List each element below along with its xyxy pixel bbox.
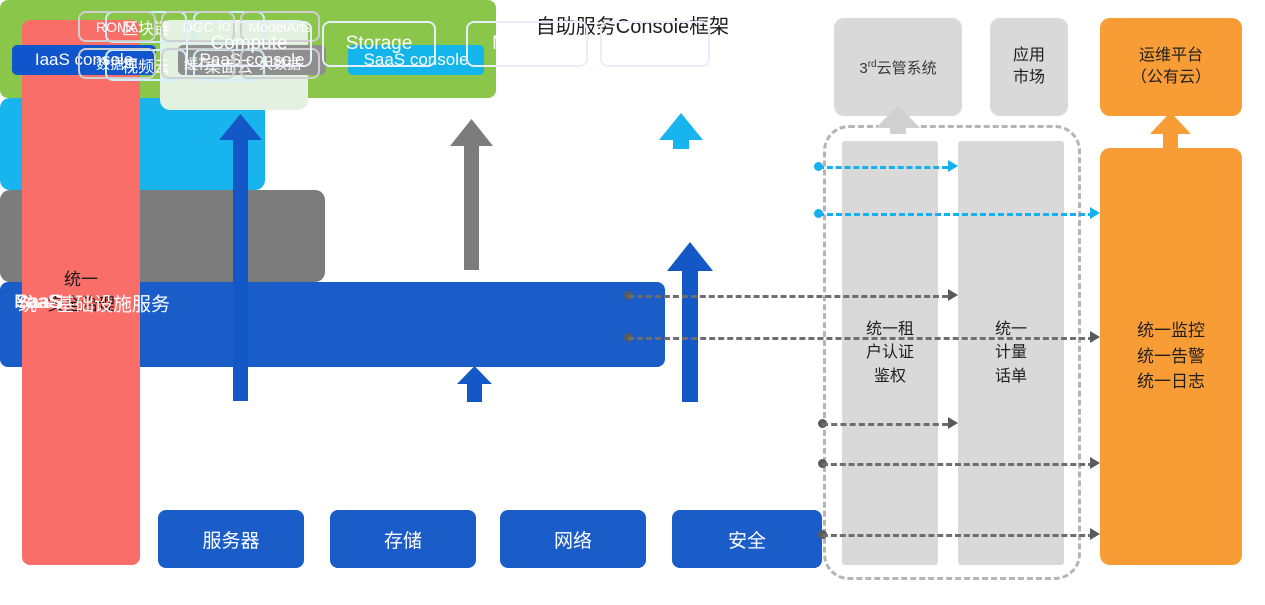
arrow-saas-to-saas-console xyxy=(659,113,703,149)
dashed-line-saas-to-auth xyxy=(818,166,948,169)
third-party-cloud-management-box: 3rd云管系统 xyxy=(834,18,962,116)
ops-monitoring-column: 统一监控 统一告警 统一日志 xyxy=(1100,148,1242,565)
arrow-infra-to-saas xyxy=(667,242,713,402)
paas-tag-roma[interactable]: ROMA xyxy=(78,11,156,42)
unified-metering-billing-panel: 统一 计量 话单 xyxy=(958,141,1064,565)
arrowhead-infra-to-ops xyxy=(1090,457,1100,469)
arrowhead-paas-to-ops xyxy=(1090,331,1100,343)
ops-platform-box: 运维平台 （公有云） xyxy=(1100,18,1242,116)
arrowhead-saas-to-auth xyxy=(948,160,958,172)
hardware-box-server: 服务器 xyxy=(158,510,304,568)
infra-tag-storage[interactable]: Storage xyxy=(322,21,436,67)
infra-tag-cce[interactable]: CCE xyxy=(600,21,710,67)
arrow-ops-column-to-ops-platform xyxy=(1150,112,1191,148)
metering-line-2: 计量 xyxy=(995,341,1027,364)
unified-tenant-auth-panel: 统一租 户认证 鉴权 xyxy=(842,141,938,565)
architecture-diagram: 统一 安全治理 API网关 自助服务Console框架 IaaS console… xyxy=(0,0,1265,605)
arrow-infra-to-paas xyxy=(457,366,492,402)
ops-column-line-1: 统一监控 xyxy=(1137,318,1205,344)
dashed-line-infra-to-ops xyxy=(822,463,1094,466)
hardware-box-storage: 存储 xyxy=(330,510,476,568)
third-party-label: 3rd云管系统 xyxy=(859,57,936,78)
dashed-line-paas-to-auth xyxy=(628,295,948,298)
ops-platform-line-1: 运维平台 xyxy=(1131,45,1211,67)
arrowhead-hardware-to-ops xyxy=(1090,528,1100,540)
hardware-box-security: 安全 xyxy=(672,510,822,568)
third-party-superscript: rd xyxy=(868,59,877,70)
arrow-paas-to-paas-console xyxy=(450,119,493,270)
ops-platform-line-2: （公有云） xyxy=(1131,67,1211,89)
auth-line-2: 户认证 xyxy=(866,341,914,364)
arrowhead-saas-to-ops xyxy=(1090,207,1100,219)
infrastructure-label: 统一基础设施服务 xyxy=(18,289,170,316)
dashed-line-infra-to-auth xyxy=(822,423,948,426)
dashed-line-paas-to-ops xyxy=(628,337,1094,340)
app-market-line-2: 市场 xyxy=(1013,67,1045,89)
dashed-line-hardware-to-ops xyxy=(822,534,1094,537)
dashed-line-saas-to-ops xyxy=(818,213,1094,216)
ops-column-line-3: 统一日志 xyxy=(1137,369,1205,395)
ops-column-line-2: 统一告警 xyxy=(1137,344,1205,370)
infra-tag-network[interactable]: Network xyxy=(466,21,588,67)
auth-line-3: 鉴权 xyxy=(866,365,914,388)
app-market-box: 应用 市场 xyxy=(990,18,1068,116)
hardware-box-network: 网络 xyxy=(500,510,646,568)
infra-tag-compute[interactable]: Compute xyxy=(186,21,312,67)
app-market-line-1: 应用 xyxy=(1013,45,1045,67)
arrowhead-paas-to-auth xyxy=(948,289,958,301)
metering-line-3: 话单 xyxy=(995,365,1027,388)
paas-tag-database[interactable]: 数据库 xyxy=(78,48,156,79)
arrowhead-infra-to-auth xyxy=(948,417,958,429)
